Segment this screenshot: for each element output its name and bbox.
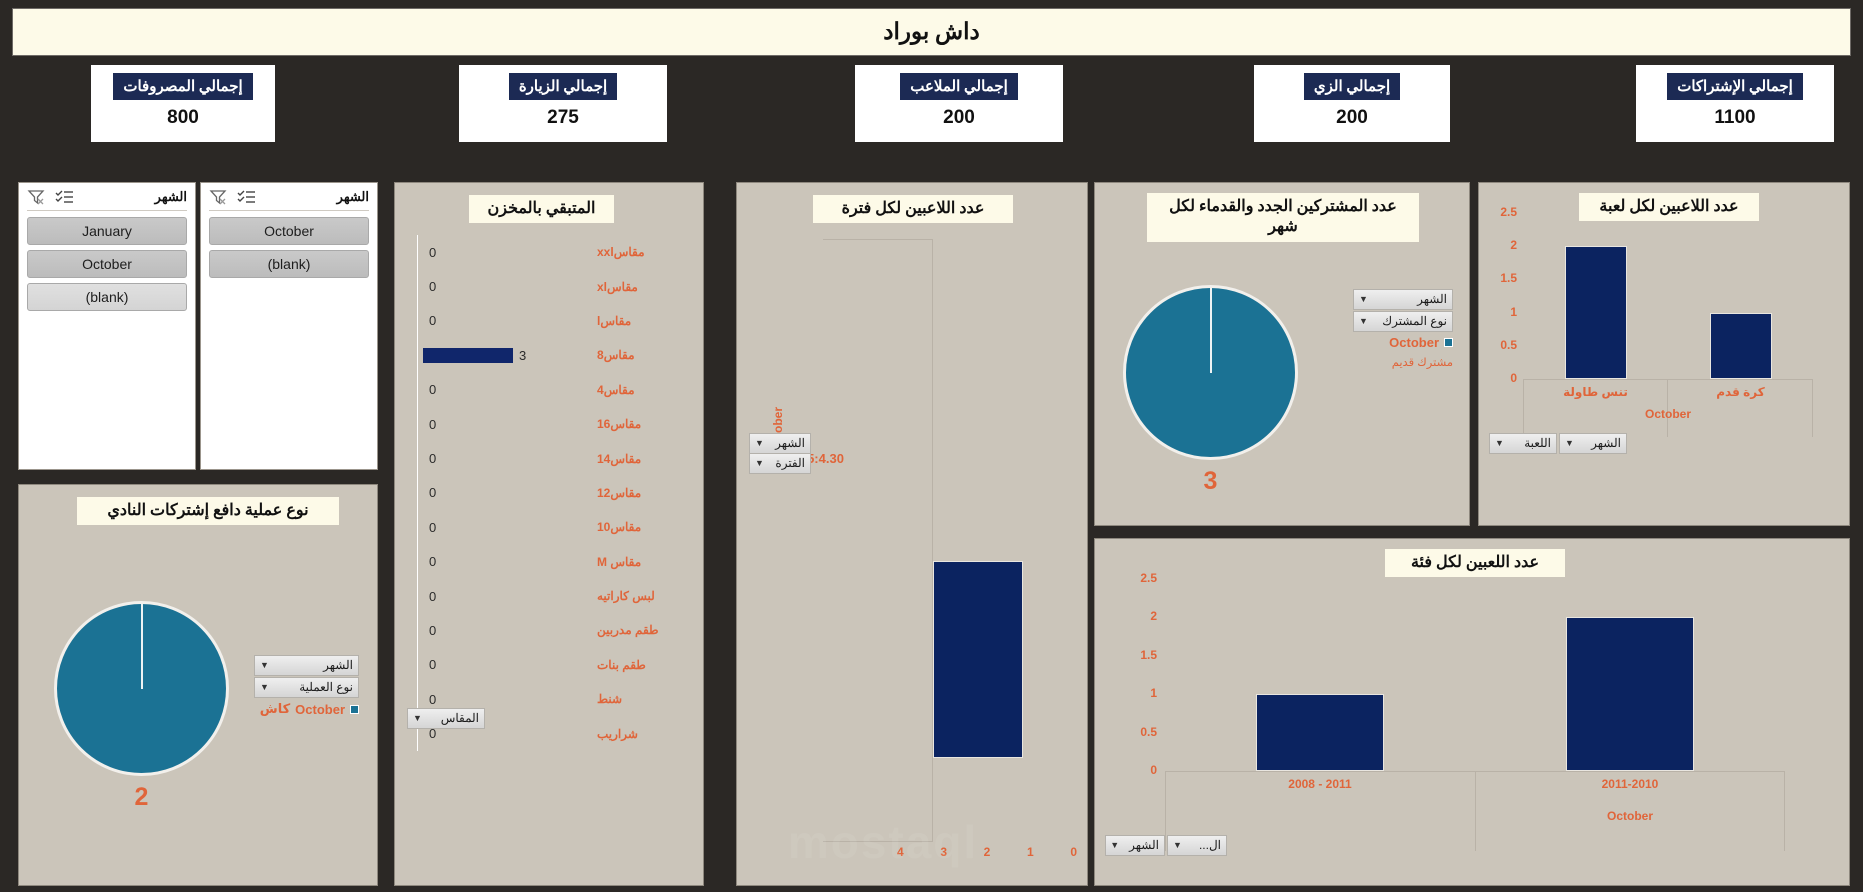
bar-1[interactable] bbox=[1566, 617, 1694, 771]
field-button-label: الشهر bbox=[1584, 435, 1621, 451]
inventory-bar-track: 0 bbox=[417, 407, 591, 441]
x-axis-tick-label: 2 bbox=[984, 845, 991, 865]
field-button-period[interactable]: الفترة ▼ bbox=[749, 453, 811, 474]
legend-label-month: October bbox=[295, 702, 345, 717]
kpi-label: إجمالي الزي bbox=[1304, 73, 1400, 100]
inventory-bar-track: 0 bbox=[417, 476, 591, 510]
field-button-label: الفترة bbox=[774, 455, 805, 471]
multiselect-icon[interactable] bbox=[55, 189, 74, 205]
panel-players-per-category: عدد اللعبين لكل فئة 00.511.522.5 2011 - … bbox=[1094, 538, 1850, 886]
chevron-down-icon: ▼ bbox=[755, 455, 764, 471]
chart-title-payment-type: نوع عملية دافع إشتركات النادي bbox=[77, 497, 339, 525]
chart-title-players-per-game: عدد اللاعبين لكل لعبة bbox=[1579, 193, 1759, 221]
y-axis-tick-label: 1.5 bbox=[1481, 271, 1517, 285]
kpi-card-expenses: إجمالي المصروفات 800 bbox=[91, 65, 275, 142]
bar-0[interactable] bbox=[1565, 246, 1627, 379]
legend-label-subscriber-type: مشترك قديم bbox=[1343, 355, 1453, 369]
inventory-category-label: لبس كاراتيه bbox=[591, 589, 687, 603]
chart-title-subscribers: عدد المشتركين الجدد والقدماء لكل شهر bbox=[1147, 193, 1419, 242]
pie-slice-separator bbox=[141, 604, 143, 689]
group-label-month: October bbox=[1475, 809, 1785, 823]
chevron-down-icon: ▼ bbox=[755, 435, 764, 451]
chevron-down-icon: ▼ bbox=[1359, 291, 1368, 307]
field-button-label: الشهر bbox=[279, 657, 353, 673]
inventory-value-label: 0 bbox=[429, 417, 436, 432]
slicer-item-january[interactable]: January bbox=[27, 217, 187, 245]
y-axis-tick-label: 2.5 bbox=[1481, 205, 1517, 219]
inventory-value-label: 0 bbox=[429, 485, 436, 500]
y-axis-tick-label: 1 bbox=[1481, 305, 1517, 319]
inventory-bar-track: 0 bbox=[417, 269, 591, 303]
x-axis-ticks: 01234 bbox=[897, 845, 1077, 865]
chevron-down-icon: ▼ bbox=[413, 710, 422, 726]
bar-0[interactable] bbox=[1256, 694, 1384, 771]
clear-filter-icon[interactable] bbox=[209, 189, 228, 205]
panel-players-per-period: عدد اللاعبين لكل فترة October 5.45:4.30 … bbox=[736, 182, 1088, 886]
y-axis-tick-label: 0 bbox=[1117, 763, 1157, 777]
inventory-category-label: طقم بنات bbox=[591, 658, 687, 672]
field-button-month[interactable]: الشهر ▼ bbox=[1105, 835, 1165, 856]
inventory-category-label: شنط bbox=[591, 692, 687, 706]
bar-1[interactable] bbox=[1710, 313, 1772, 379]
inventory-category-label: طقم مدربين bbox=[591, 623, 687, 637]
chevron-down-icon: ▼ bbox=[1359, 313, 1368, 329]
inventory-bar[interactable] bbox=[423, 348, 513, 363]
field-button-subscriber-type[interactable]: نوع المشترك ▼ bbox=[1353, 311, 1453, 332]
slicer-item-blank[interactable]: (blank) bbox=[209, 250, 369, 278]
inventory-row: مقاس160 bbox=[417, 407, 687, 441]
legend-label-month: October bbox=[1389, 335, 1439, 350]
y-axis-tick-label: 1 bbox=[1117, 686, 1157, 700]
inventory-value-label: 0 bbox=[429, 692, 436, 707]
category-label: كرة قدم bbox=[1668, 385, 1813, 399]
slicer-header: الشهر bbox=[209, 189, 369, 211]
inventory-bar-list: مقاسxxl0مقاسxl0مقاسl0مقاس83مقاس40مقاس160… bbox=[417, 235, 687, 751]
legend-label-category: كاش bbox=[260, 701, 290, 717]
inventory-value-label: 0 bbox=[429, 279, 436, 294]
kpi-value: 200 bbox=[943, 107, 975, 129]
inventory-row: مقاس140 bbox=[417, 441, 687, 475]
slicer-item-october[interactable]: October bbox=[209, 217, 369, 245]
field-button-label: الشهر bbox=[1378, 291, 1447, 307]
inventory-row: مقاس M0 bbox=[417, 545, 687, 579]
slicer-header: الشهر bbox=[27, 189, 187, 211]
field-button-label: نوع العملية bbox=[279, 679, 353, 695]
field-button-bar: ال... ▼ الشهر ▼ bbox=[1105, 835, 1227, 856]
inventory-bar-track: 0 bbox=[417, 579, 591, 613]
inventory-category-label: مقاس10 bbox=[591, 520, 687, 534]
y-axis-tick-label: 0.5 bbox=[1481, 338, 1517, 352]
kpi-label: إجمالي الملاعب bbox=[900, 73, 1018, 100]
inventory-bar-track: 0 bbox=[417, 304, 591, 338]
inventory-row: مقاس40 bbox=[417, 373, 687, 407]
page-title: داش بوراد bbox=[883, 19, 979, 45]
field-button-label: المقاس bbox=[432, 710, 479, 726]
y-axis-tick-label: 2.5 bbox=[1117, 571, 1157, 585]
inventory-category-label: مقاسxxl bbox=[591, 245, 687, 259]
inventory-category-label: مقاسl bbox=[591, 314, 687, 328]
pie-chart-subscribers[interactable] bbox=[1123, 285, 1298, 460]
inventory-row: مقاسxl0 bbox=[417, 269, 687, 303]
panel-subscribers: عدد المشتركين الجدد والقدماء لكل شهر 3 ا… bbox=[1094, 182, 1470, 526]
kpi-label: إجمالي المصروفات bbox=[113, 73, 252, 100]
inventory-value-label: 0 bbox=[429, 451, 436, 466]
kpi-card-fields: إجمالي الملاعب 200 bbox=[855, 65, 1063, 142]
inventory-row: طقم مدربين0 bbox=[417, 613, 687, 647]
inventory-row: مقاس83 bbox=[417, 338, 687, 372]
category-label: تنس طاولة bbox=[1523, 385, 1668, 399]
slicer-item-label: (blank) bbox=[86, 289, 129, 305]
inventory-value-label: 0 bbox=[429, 382, 436, 397]
field-button-category[interactable]: ال... ▼ bbox=[1167, 835, 1227, 856]
category-label: 2011 - 2008 bbox=[1165, 777, 1475, 791]
x-axis-tick-label: 1 bbox=[1027, 845, 1034, 865]
inventory-value-label: 0 bbox=[429, 313, 436, 328]
field-button-size[interactable]: المقاس ▼ bbox=[407, 708, 485, 729]
y-axis-tick-label: 2 bbox=[1481, 238, 1517, 252]
inventory-value-label: 0 bbox=[429, 657, 436, 672]
panel-players-per-game: عدد اللاعبين لكل لعبة 00.511.522.5 تنس ط… bbox=[1478, 182, 1850, 526]
inventory-row: مقاسxxl0 bbox=[417, 235, 687, 269]
inventory-value-label: 3 bbox=[519, 348, 526, 363]
chevron-down-icon: ▼ bbox=[1110, 837, 1119, 853]
inventory-bar-track: 0 bbox=[417, 373, 591, 407]
legend-swatch-icon bbox=[350, 705, 359, 714]
inventory-bar-track: 0 bbox=[417, 545, 591, 579]
inventory-bar-track: 0 bbox=[417, 648, 591, 682]
inventory-bar-track: 3 bbox=[417, 338, 591, 372]
inventory-row: مقاس100 bbox=[417, 510, 687, 544]
inventory-category-label: مقاس4 bbox=[591, 383, 687, 397]
inventory-row: طقم بنات0 bbox=[417, 648, 687, 682]
inventory-value-label: 0 bbox=[429, 623, 436, 638]
kpi-card-subscriptions: إجمالي الإشتراكات 1100 bbox=[1636, 65, 1834, 142]
chevron-down-icon: ▼ bbox=[1565, 435, 1574, 451]
plot-top-border bbox=[823, 239, 933, 240]
field-button-month[interactable]: الشهر ▼ bbox=[1353, 289, 1453, 310]
chart-title-inventory: المتبقي بالمخزن bbox=[469, 195, 614, 223]
kpi-value: 275 bbox=[547, 107, 579, 129]
inventory-value-label: 0 bbox=[429, 554, 436, 569]
slicer-item-label: January bbox=[82, 223, 132, 239]
group-label-month: October bbox=[1523, 407, 1813, 421]
slicer-item-blank[interactable]: (blank) bbox=[27, 283, 187, 311]
y-axis-tick-label: 0.5 bbox=[1117, 725, 1157, 739]
clear-filter-icon[interactable] bbox=[27, 189, 46, 205]
legend-swatch-icon bbox=[1444, 338, 1453, 347]
x-axis-tick-label: 3 bbox=[940, 845, 947, 865]
kpi-value: 200 bbox=[1336, 107, 1368, 129]
slicer-item-label: October bbox=[82, 256, 132, 272]
inventory-value-label: 0 bbox=[429, 520, 436, 535]
inventory-row: مقاس120 bbox=[417, 476, 687, 510]
category-label: 2011-2010 bbox=[1475, 777, 1785, 791]
kpi-card-uniform: إجمالي الزي 200 bbox=[1254, 65, 1450, 142]
slicer-item-label: October bbox=[264, 223, 314, 239]
inventory-category-label: مقاس14 bbox=[591, 452, 687, 466]
inventory-category-label: مقاس16 bbox=[591, 417, 687, 431]
slicer-item-label: (blank) bbox=[268, 256, 311, 272]
chart-title-players-per-category: عدد اللعبين لكل فئة bbox=[1385, 549, 1565, 577]
bar-period-545-430[interactable] bbox=[933, 561, 1023, 758]
panel-inventory: المتبقي بالمخزن مقاسxxl0مقاسxl0مقاسl0مقا… bbox=[394, 182, 704, 886]
y-axis-tick-label: 2 bbox=[1117, 609, 1157, 623]
legend-subscribers: October bbox=[1389, 335, 1453, 350]
inventory-value-label: 0 bbox=[429, 589, 436, 604]
field-button-label: ال... bbox=[1192, 837, 1221, 853]
y-axis-tick-label: 0 bbox=[1481, 371, 1517, 385]
legend-payment-type: October كاش bbox=[260, 701, 359, 717]
field-button-label: اللعبة bbox=[1514, 435, 1551, 451]
inventory-category-label: مقاس M bbox=[591, 555, 687, 569]
inventory-category-label: مقاس8 bbox=[591, 348, 687, 362]
slicer-title: الشهر bbox=[155, 189, 187, 205]
slicer-month-primary[interactable]: الشهر bbox=[18, 182, 196, 470]
x-axis-tick-label: 0 bbox=[1070, 845, 1077, 865]
x-axis-tick-label: 4 bbox=[897, 845, 904, 865]
category-axis-line bbox=[1523, 379, 1813, 380]
kpi-card-visits: إجمالي الزيارة 275 bbox=[459, 65, 667, 142]
inventory-row: لبس كاراتيه0 bbox=[417, 579, 687, 613]
kpi-value: 800 bbox=[167, 107, 199, 129]
kpi-label: إجمالي الزيارة bbox=[509, 73, 617, 100]
panel-payment-type: نوع عملية دافع إشتركات النادي 2 الشهر ▼ … bbox=[18, 484, 378, 886]
y-axis-tick-label: 1.5 bbox=[1117, 648, 1157, 662]
pie-data-label: 3 bbox=[1123, 467, 1298, 496]
inventory-category-label: مقاس12 bbox=[591, 486, 687, 500]
kpi-value: 1100 bbox=[1714, 107, 1755, 129]
chevron-down-icon: ▼ bbox=[1495, 435, 1504, 451]
inventory-category-label: شراريب bbox=[591, 727, 687, 741]
field-button-label: نوع المشترك bbox=[1378, 313, 1447, 329]
inventory-value-label: 0 bbox=[429, 245, 436, 260]
inventory-bar-track: 0 bbox=[417, 441, 591, 475]
pie-slice-separator bbox=[1210, 288, 1212, 373]
plot-bottom-border bbox=[823, 841, 933, 842]
chart-title-players-per-period: عدد اللاعبين لكل فترة bbox=[813, 195, 1013, 223]
slicer-month-secondary[interactable]: الشهر bbox=[200, 182, 378, 470]
dashboard-title-banner: داش بوراد bbox=[12, 8, 1851, 56]
field-button-month[interactable]: الشهر ▼ bbox=[254, 655, 359, 676]
chevron-down-icon: ▼ bbox=[260, 657, 269, 673]
pie-chart-payment-type[interactable] bbox=[54, 601, 229, 776]
field-button-month[interactable]: الشهر ▼ bbox=[749, 433, 811, 454]
chevron-down-icon: ▼ bbox=[260, 679, 269, 695]
chevron-down-icon: ▼ bbox=[1173, 837, 1182, 853]
multiselect-icon[interactable] bbox=[237, 189, 256, 205]
inventory-bar-track: 0 bbox=[417, 613, 591, 647]
inventory-bar-track: 0 bbox=[417, 510, 591, 544]
pie-data-label: 2 bbox=[54, 783, 229, 812]
field-button-game[interactable]: اللعبة ▼ bbox=[1489, 433, 1557, 454]
field-button-bar: الشهر ▼ اللعبة ▼ bbox=[1489, 433, 1627, 454]
slicer-title: الشهر bbox=[337, 189, 369, 205]
slicer-item-october[interactable]: October bbox=[27, 250, 187, 278]
inventory-bar-track: 0 bbox=[417, 235, 591, 269]
field-button-label: الشهر bbox=[1129, 837, 1159, 853]
inventory-category-label: مقاسxl bbox=[591, 280, 687, 294]
field-button-label: الشهر bbox=[774, 435, 805, 451]
kpi-label: إجمالي الإشتراكات bbox=[1667, 73, 1803, 100]
inventory-row: مقاسl0 bbox=[417, 304, 687, 338]
field-button-operation-type[interactable]: نوع العملية ▼ bbox=[254, 677, 359, 698]
field-button-month[interactable]: الشهر ▼ bbox=[1559, 433, 1627, 454]
